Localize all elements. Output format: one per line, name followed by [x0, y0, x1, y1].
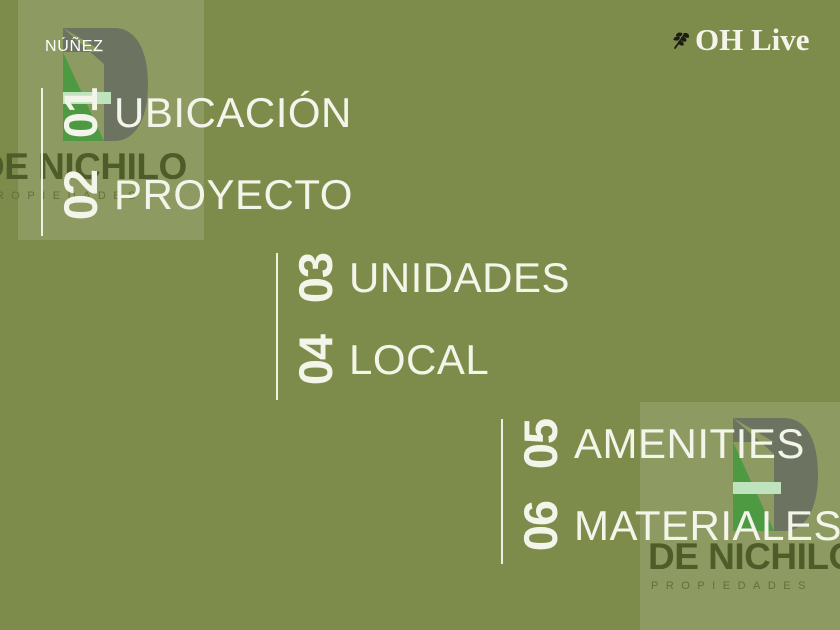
- menu-item-number: 06: [517, 501, 564, 551]
- menu-item-number: 04: [292, 335, 339, 385]
- leaf-icon: [671, 27, 693, 53]
- menu-item-number: 03: [292, 253, 339, 303]
- oh-live-brand: OH Live: [671, 24, 810, 55]
- neighborhood-label: NÚÑEZ: [45, 38, 104, 56]
- menu-item-label: UBICACIÓN: [114, 92, 352, 134]
- group-divider-rule: [276, 253, 278, 400]
- menu-item-materiales[interactable]: 06 MATERIALES: [517, 501, 840, 551]
- menu-item-number: 01: [57, 88, 104, 138]
- oh-live-wordmark: OH Live: [695, 24, 810, 55]
- menu-item-proyecto[interactable]: 02 PROYECTO: [57, 170, 353, 220]
- menu-item-ubicacion[interactable]: 01 UBICACIÓN: [57, 88, 352, 138]
- menu-item-label: PROYECTO: [114, 174, 353, 216]
- menu-item-number: 05: [517, 419, 564, 469]
- menu-item-label: LOCAL: [349, 339, 489, 381]
- menu-item-amenities[interactable]: 05 AMENITIES: [517, 419, 805, 469]
- menu-item-local[interactable]: 04 LOCAL: [292, 335, 489, 385]
- menu-item-label: MATERIALES: [574, 505, 840, 547]
- presentation-index-slide: DE NICHILO PROPIEDADES DE NICHILO PROPIE…: [0, 0, 840, 630]
- watermark-company-tagline: PROPIEDADES: [651, 580, 813, 592]
- menu-item-label: AMENITIES: [574, 423, 805, 465]
- group-divider-rule: [501, 419, 503, 564]
- menu-item-label: UNIDADES: [349, 257, 570, 299]
- group-divider-rule: [41, 88, 43, 236]
- menu-item-unidades[interactable]: 03 UNIDADES: [292, 253, 570, 303]
- menu-item-number: 02: [57, 170, 104, 220]
